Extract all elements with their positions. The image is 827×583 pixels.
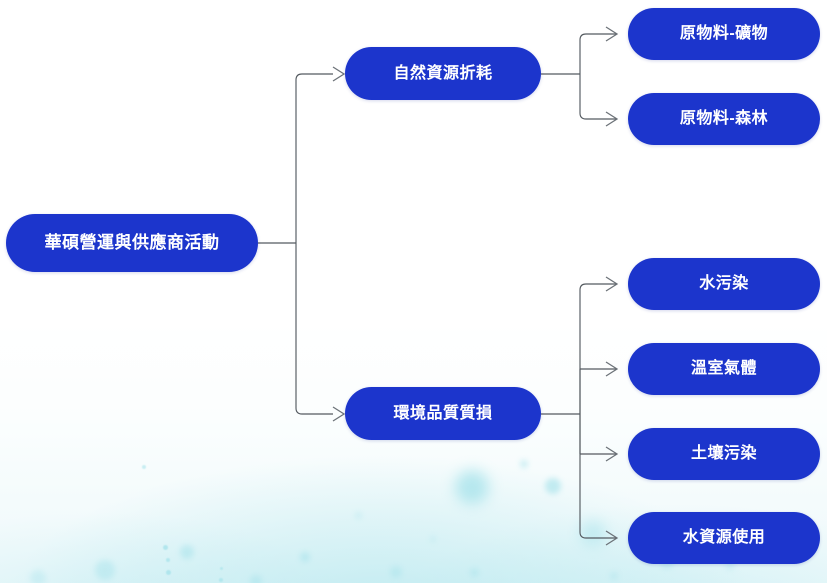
connector-branch-2-to-leaf-4 [580,369,617,414]
arrowhead-branch-1 [333,67,344,81]
node-branch-natural-resource-depletion[interactable]: 自然資源折耗 [345,47,541,100]
node-leaf-2-label: 原物料-森林 [670,110,778,128]
node-leaf-5-label: 土壤污染 [681,445,767,463]
node-leaf-3-label: 水污染 [689,275,759,293]
node-leaf-4-label: 溫室氣體 [681,360,767,378]
connector-root-to-branch-2 [296,243,333,414]
arrowhead-branch-2 [333,407,344,421]
connector-branch-2-to-leaf-3 [580,284,617,414]
node-leaf-greenhouse-gas[interactable]: 溫室氣體 [628,343,820,395]
connector-branch-2-to-leaf-5 [580,414,617,454]
diagram-canvas: 華碩營運與供應商活動 自然資源折耗 環境品質質損 原物料-礦物 原物料-森林 水… [0,0,827,583]
node-root[interactable]: 華碩營運與供應商活動 [6,214,258,272]
node-leaf-water-pollution[interactable]: 水污染 [628,258,820,310]
connector-root-to-branch-1 [296,74,333,243]
node-leaf-raw-material-forest[interactable]: 原物料-森林 [628,93,820,145]
connector-branch-2-to-leaf-6 [580,414,617,538]
node-root-label: 華碩營運與供應商活動 [35,234,230,253]
connector-branch-1-to-leaf-1 [580,34,617,74]
node-leaf-6-label: 水資源使用 [673,529,776,547]
node-leaf-water-resource-use[interactable]: 水資源使用 [628,512,820,564]
node-branch-2-label: 環境品質質損 [383,405,502,423]
node-leaf-soil-pollution[interactable]: 土壤污染 [628,428,820,480]
node-leaf-1-label: 原物料-礦物 [670,25,778,43]
node-branch-environmental-quality-damage[interactable]: 環境品質質損 [345,387,541,440]
connector-branch-1-to-leaf-2 [580,74,617,119]
node-leaf-raw-material-mineral[interactable]: 原物料-礦物 [628,8,820,60]
node-branch-1-label: 自然資源折耗 [383,65,502,83]
